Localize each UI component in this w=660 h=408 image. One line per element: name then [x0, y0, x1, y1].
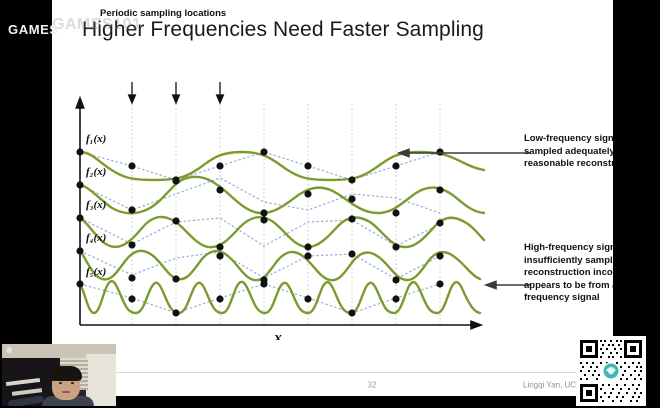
- f3-samples: [76, 214, 443, 250]
- f4-signal: [80, 251, 480, 280]
- sampling-figure: x f₁(x): [60, 70, 530, 340]
- footer-divider: [72, 372, 597, 373]
- annotation-low-frequency: Low-frequency signal: sampled adequately…: [524, 133, 613, 171]
- f5-signal: [80, 281, 480, 313]
- f3-signal: [80, 217, 484, 247]
- series-label-f3: f₃(x): [86, 199, 106, 211]
- watermark-ghost-text: GAMES101: [52, 16, 141, 34]
- presentation-slide: Higher Frequencies Need Faster Sampling …: [52, 0, 613, 396]
- series-f1: f₁(x): [76, 133, 484, 184]
- annotation-high-frequency: High-frequency signal is insufficiently …: [524, 242, 613, 305]
- channel-watermark: GAMES: [8, 22, 59, 37]
- webcam-eye: [59, 382, 62, 384]
- sampling-arrows: [129, 82, 224, 103]
- series-label-f4: f₄(x): [86, 232, 106, 244]
- webcam-eye: [71, 382, 74, 384]
- f1-signal: [80, 152, 484, 180]
- f3-reconstruction: [80, 218, 440, 246]
- series-f2: f₂(x): [76, 166, 484, 217]
- series-label-f5: f₅(x): [86, 266, 106, 278]
- x-axis: [80, 321, 481, 328]
- page-title: Higher Frequencies Need Faster Sampling: [82, 18, 602, 42]
- x-axis-label: x: [273, 330, 282, 340]
- webcam-corner-light: [6, 347, 12, 353]
- qr-code[interactable]: [576, 336, 646, 406]
- webcam-mouth: [62, 391, 70, 393]
- series-label-f2: f₂(x): [86, 166, 106, 178]
- video-player-stage: Higher Frequencies Need Faster Sampling …: [0, 0, 660, 408]
- webcam-overlay[interactable]: [2, 344, 116, 406]
- series-f4: f₄(x): [76, 232, 480, 284]
- qr-code-svg: [576, 336, 646, 406]
- webcam-hair: [50, 366, 82, 381]
- signal-plot-svg: x f₁(x): [60, 70, 530, 340]
- f2-signal: [80, 177, 484, 213]
- series-label-f1: f₁(x): [86, 133, 106, 145]
- page-number: 32: [368, 381, 377, 390]
- callout-arrow-low: [399, 149, 530, 156]
